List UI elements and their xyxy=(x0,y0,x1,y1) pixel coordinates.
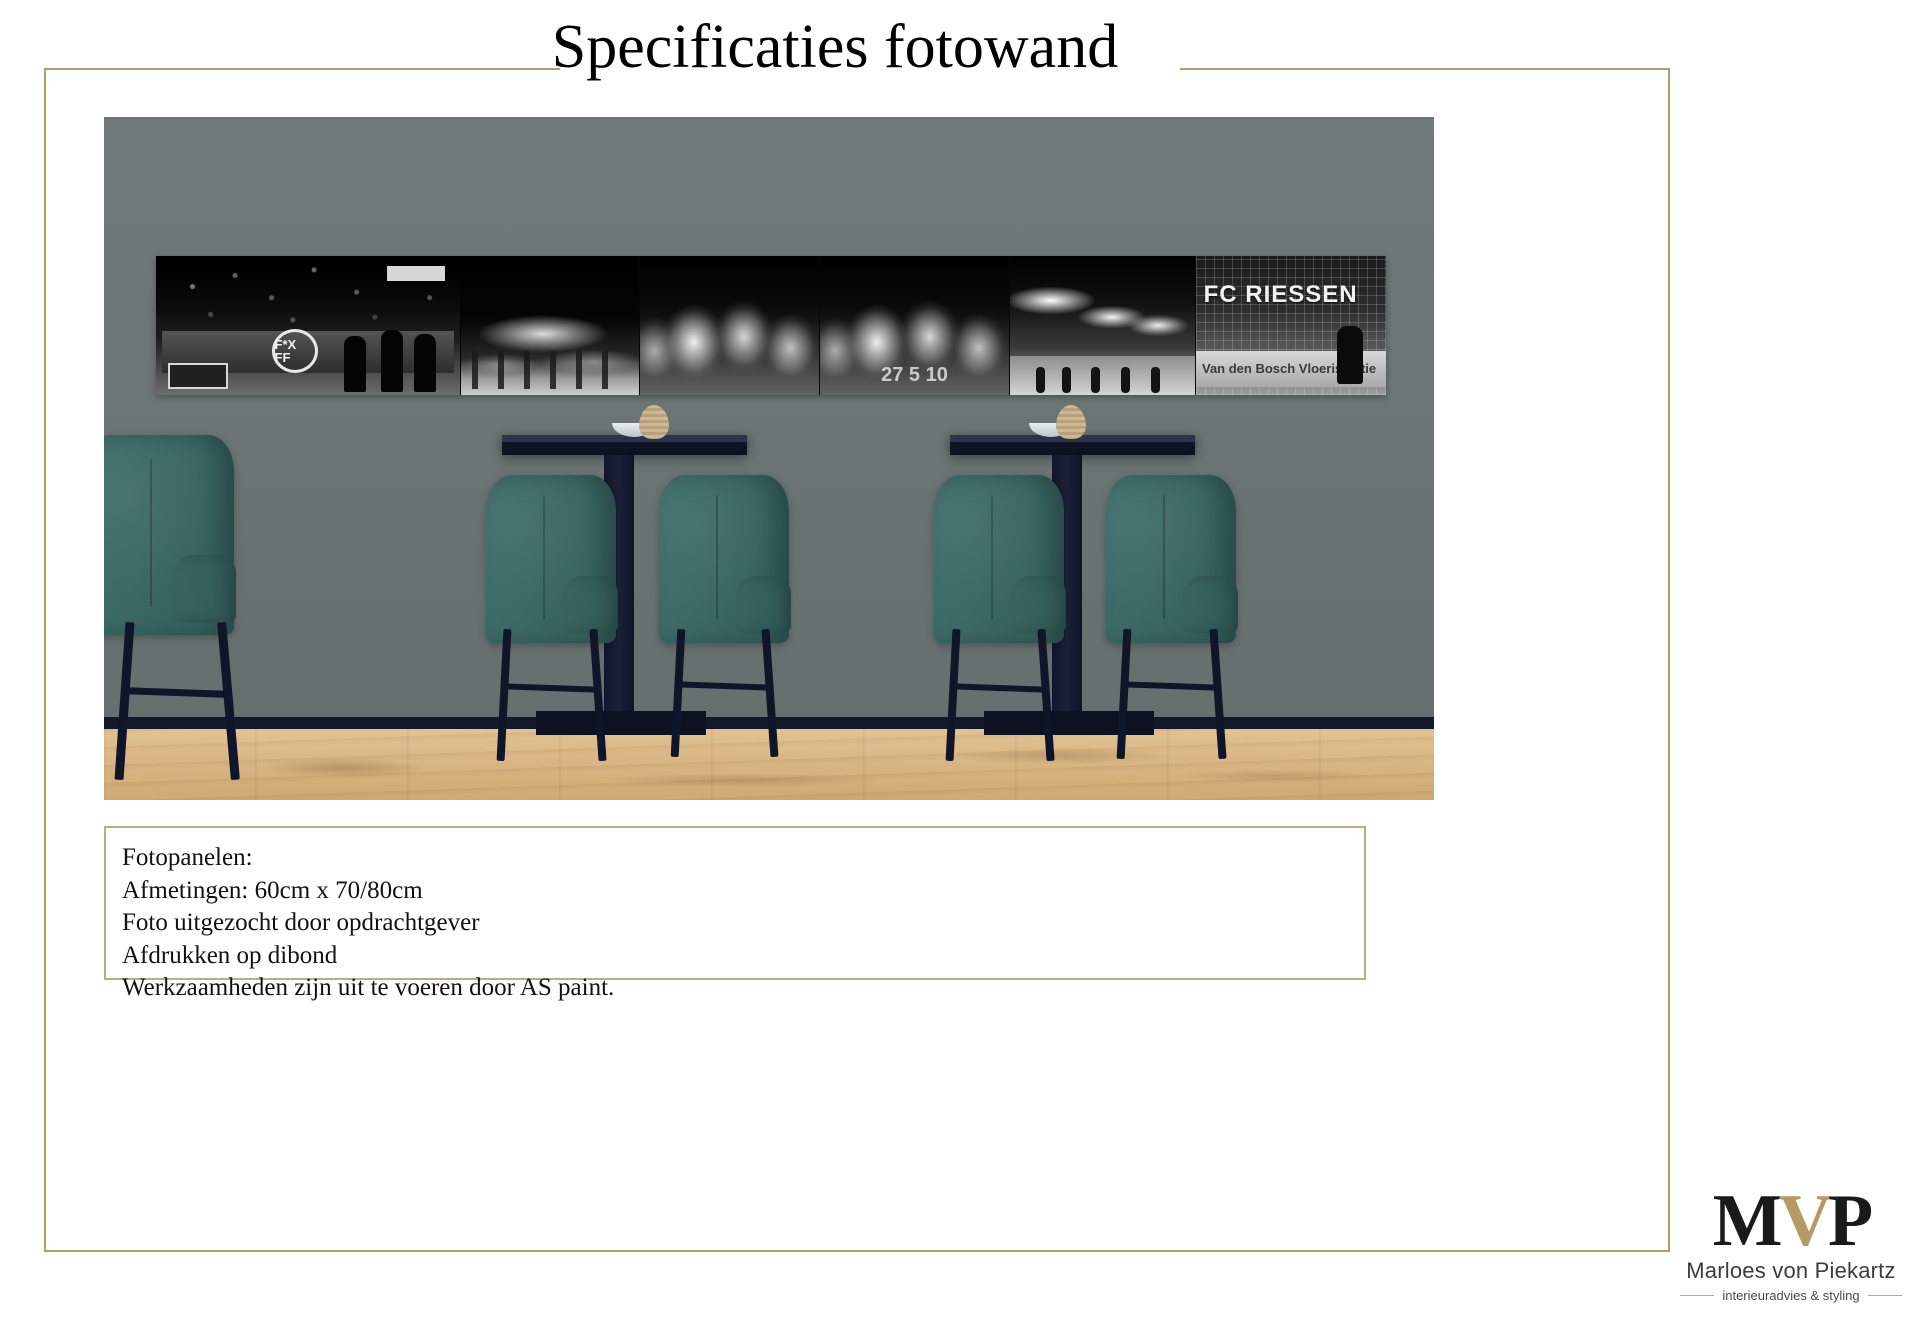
mvp-logo: MVP Marloes von Piekartz interieuradvies… xyxy=(1676,1186,1906,1303)
photo-panel-celebration-faces xyxy=(639,256,819,395)
photo-panel-night-stadium xyxy=(460,256,639,395)
photo-panel-goalmouth: FC RIESSEN Van den Bosch Vloerisolatie xyxy=(1195,256,1386,395)
stool-seam xyxy=(150,459,152,607)
interior-render-image: F*X FF 27 5 10 xyxy=(104,117,1434,800)
player-row xyxy=(472,351,629,390)
table-decor-vase xyxy=(1056,405,1086,439)
sponsor-tag xyxy=(387,266,445,281)
player-silhouette xyxy=(414,334,436,392)
spec-line-4: Afdrukken op dibond xyxy=(122,940,1364,973)
player-silhouette xyxy=(1121,367,1130,393)
advert-board xyxy=(168,363,228,389)
bar-stool xyxy=(934,475,1064,643)
fc-riessen-label: FC RIESSEN xyxy=(1204,281,1358,309)
bar-stool xyxy=(486,475,616,643)
photo-panel-floodlights xyxy=(1009,256,1195,395)
badge-caption: F*X FF xyxy=(275,338,315,364)
spec-line-1: Fotopanelen: xyxy=(122,842,1364,875)
mvp-mono-v: V xyxy=(1779,1180,1828,1262)
photo-wall-strip: F*X FF 27 5 10 xyxy=(156,256,1386,395)
mvp-name: Marloes von Piekartz xyxy=(1676,1258,1906,1284)
bar-table-edge xyxy=(502,435,747,442)
player-silhouette xyxy=(381,330,403,392)
mvp-mono-p: P xyxy=(1828,1180,1869,1262)
spec-line-5: Werkzaamheden zijn uit te voeren door AS… xyxy=(122,972,1364,1005)
player-silhouette xyxy=(1036,367,1045,393)
faces-texture xyxy=(640,256,819,395)
mvp-tagline-row: interieuradvies & styling xyxy=(1676,1288,1906,1303)
stool-seam xyxy=(543,495,545,619)
player-silhouette xyxy=(1091,367,1100,393)
club-badge-icon: F*X FF xyxy=(272,329,318,373)
stool-seam xyxy=(991,495,993,619)
mvp-tagline: interieuradvies & styling xyxy=(1722,1288,1859,1303)
stool-seam xyxy=(716,495,718,619)
mvp-rule-right xyxy=(1868,1295,1902,1296)
stool-seam xyxy=(1163,495,1165,619)
stool-armrest xyxy=(736,576,791,633)
mvp-rule-left xyxy=(1680,1295,1714,1296)
bar-stool xyxy=(104,435,234,635)
table-decor-vase xyxy=(639,405,669,439)
pitch-surface xyxy=(1010,356,1195,395)
stool-armrest xyxy=(1183,576,1238,633)
specification-box: Fotopanelen: Afmetingen: 60cm x 70/80cm … xyxy=(104,826,1366,980)
stool-armrest xyxy=(173,555,236,623)
shirt-numbers: 27 5 10 xyxy=(820,339,1009,386)
bar-table-base xyxy=(984,711,1154,735)
photo-panel-crowd-banner: F*X FF xyxy=(156,256,460,395)
stool-armrest xyxy=(1011,576,1066,633)
page-title: Specificaties fotowand xyxy=(0,16,1670,78)
spec-line-3: Foto uitgezocht door opdrachtgever xyxy=(122,907,1364,940)
mvp-mono-m: M xyxy=(1713,1180,1779,1262)
specification-lines: Fotopanelen: Afmetingen: 60cm x 70/80cm … xyxy=(106,828,1364,1005)
stool-armrest xyxy=(563,576,618,633)
goalkeeper-silhouette xyxy=(1337,326,1363,384)
player-silhouette xyxy=(1151,367,1160,393)
player-silhouette xyxy=(344,336,366,392)
photo-panel-team-huddle: 27 5 10 xyxy=(819,256,1009,395)
spec-line-2: Afmetingen: 60cm x 70/80cm xyxy=(122,875,1364,908)
player-silhouette xyxy=(1062,367,1071,393)
bar-stool xyxy=(659,475,789,643)
bar-stool xyxy=(1106,475,1236,643)
slide-root: Specificaties fotowand F*X FF xyxy=(0,0,1919,1320)
mvp-monogram-icon: MVP xyxy=(1676,1186,1906,1256)
